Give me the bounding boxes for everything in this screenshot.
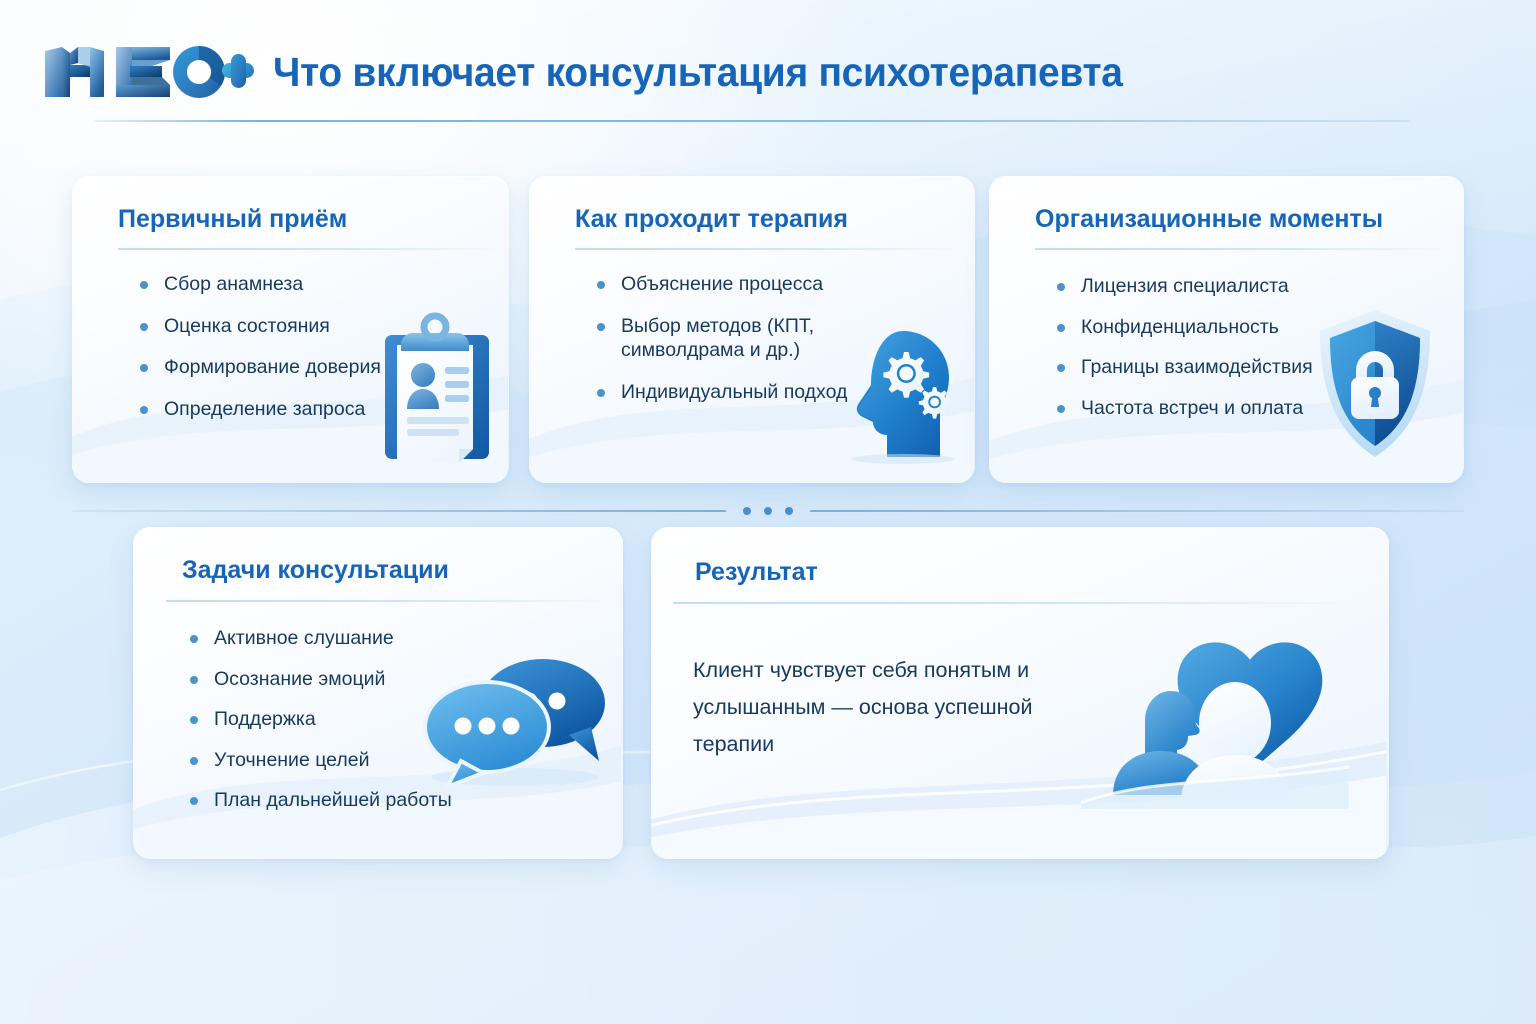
list-item: Оценка состояния: [138, 314, 468, 339]
divider-line-right: [810, 510, 1464, 512]
page-title: Что включает консультация психотерапевта: [273, 52, 1123, 93]
card-bullet-list: Активное слушание Осознание эмоций Подде…: [188, 626, 528, 829]
list-item: Сбор анамнеза: [138, 272, 468, 297]
list-item: Индивидуальный подход: [595, 380, 865, 405]
card-therapy-process[interactable]: Как проходит терапия Объяснение процесса…: [529, 176, 975, 483]
result-body-text: Клиент чувствует себя понятым и услышанн…: [693, 652, 1113, 763]
header-rule: [94, 120, 1410, 122]
card-title: Задачи консультации: [182, 557, 449, 585]
card-consultation-tasks[interactable]: Задачи консультации Активное слушание Ос…: [133, 527, 623, 859]
card-bullet-list: Лицензия специалиста Конфиденциальность …: [1055, 274, 1355, 436]
list-item: Поддержка: [188, 707, 528, 732]
list-item: Конфиденциальность: [1055, 315, 1355, 340]
list-item: Определение запроса: [138, 397, 468, 422]
list-item: Выбор методов (КПТ, символдрама и др.): [595, 314, 865, 363]
list-item: План дальнейшей работы: [188, 788, 528, 813]
card-title-rule: [166, 600, 600, 602]
divider-dot: [785, 507, 793, 515]
list-item: Частота встреч и оплата: [1055, 396, 1355, 421]
card-title-rule: [118, 248, 493, 250]
section-divider: [72, 505, 1464, 517]
card-title: Первичный приём: [118, 206, 347, 234]
infographic-page: Что включает консультация психотерапевта…: [0, 0, 1536, 1024]
card-title: Организационные моменты: [1035, 206, 1383, 234]
card-primary-appointment[interactable]: Первичный приём Сбор анамнеза Оценка сос…: [72, 176, 509, 483]
card-bullet-list: Объяснение процесса Выбор методов (КПТ, …: [595, 272, 865, 404]
heart-people-icon: [1081, 627, 1349, 809]
card-bullet-list: Сбор анамнеза Оценка состояния Формирова…: [138, 272, 468, 421]
list-item: Лицензия специалиста: [1055, 274, 1355, 299]
card-result[interactable]: Результат Клиент чувствует себя понятым …: [651, 527, 1389, 859]
card-title-rule: [1035, 248, 1440, 250]
card-title-rule: [575, 248, 953, 250]
card-title: Как проходит терапия: [575, 206, 848, 234]
list-item: Уточнение целей: [188, 748, 528, 773]
divider-dot: [764, 507, 772, 515]
card-organizational[interactable]: Организационные моменты Лицензия специал…: [989, 176, 1464, 483]
divider-dots: [726, 507, 810, 515]
page-header: Что включает консультация психотерапевта: [38, 36, 1410, 136]
card-title: Результат: [695, 559, 818, 587]
divider-dot: [743, 507, 751, 515]
divider-line-left: [72, 510, 726, 512]
list-item: Формирование доверия: [138, 355, 468, 380]
list-item: Осознание эмоций: [188, 667, 528, 692]
list-item: Границы взаимодействия: [1055, 355, 1355, 380]
list-item: Активное слушание: [188, 626, 528, 651]
neo-plus-logo-icon: [42, 43, 255, 101]
card-title-rule: [673, 602, 1341, 604]
list-item: Объяснение процесса: [595, 272, 865, 297]
